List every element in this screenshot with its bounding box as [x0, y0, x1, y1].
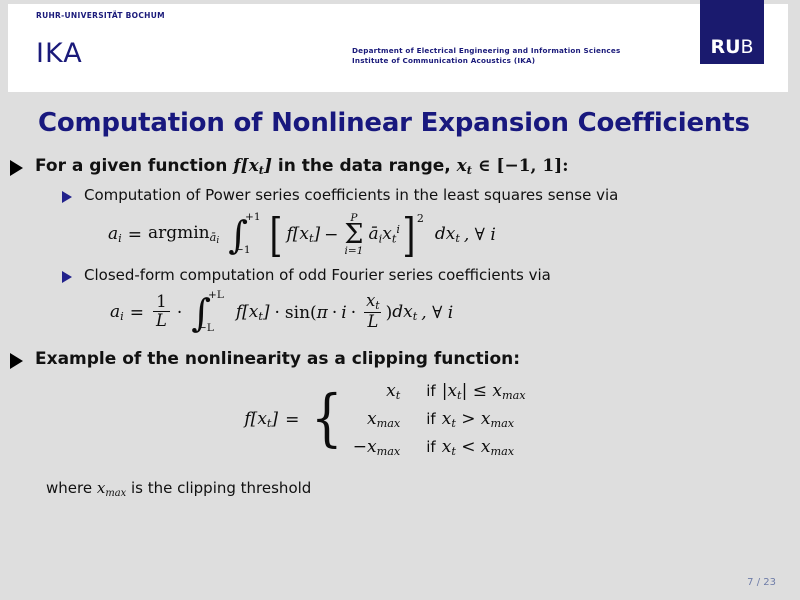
eq2-fraction-xt-over-l: xt L [363, 292, 383, 331]
eq2-differential: dxt [392, 302, 417, 323]
bullet1-f-close: ] [264, 156, 272, 176]
eq1-sum-symbol: Σ [344, 224, 363, 246]
eq2-cdot-3: · [332, 303, 337, 323]
pw-lhs: f[xt] [244, 409, 278, 430]
pw-row-1-cond-a: |x [442, 381, 457, 401]
triangle-subbullet-icon [62, 191, 72, 203]
equation-power-series: ai = argmināi ∫ +1 −1 [ f[xt] − P Σ i=1 … [108, 212, 800, 257]
eq2-pi: π [317, 303, 328, 323]
closing-var-sub: max [105, 487, 126, 498]
bullet1-range-rel: ∈ [−1, 1]: [472, 156, 569, 176]
pw-equals: = [285, 410, 299, 430]
eq2-f-open: f[x [236, 302, 259, 322]
eq1-argmin: argmināi [148, 223, 219, 246]
pw-row-2-value-a: x [367, 409, 377, 429]
pw-row-2-value: xmax [353, 409, 401, 430]
eq1-bracket-exponent: 2 [417, 212, 424, 225]
triangle-bullet-icon [10, 160, 23, 176]
bullet-level1-clipping-example: Example of the nonlinearity as a clippin… [10, 349, 800, 369]
eq2-inner-den: L [364, 312, 381, 331]
eq2-inner-num-sub: t [375, 299, 379, 312]
eq1-f-open: f[x [286, 224, 309, 244]
eq2-f-close: ] [263, 302, 270, 322]
eq2-frac-num: 1 [153, 293, 169, 311]
pw-brace-icon: { [311, 399, 343, 437]
pw-row-3-cond: ifxt < xmax [426, 437, 525, 458]
pw-row-3-cond-rest-sub: max [490, 446, 514, 459]
eq2-sin: sin( [285, 303, 317, 323]
closing-note: where xmax is the clipping threshold [46, 479, 800, 499]
bullet1-text-b: in the data range, [278, 156, 451, 176]
university-name: RUHR-UNIVERSITÄT BOCHUM [36, 11, 165, 20]
eq2-close-paren: ) [386, 303, 393, 323]
pw-cases: xt if|xt| ≤ xmax xmax ifxt > xmax −xmax … [353, 381, 526, 458]
equation-clipping-function-wrap: f[xt] = { xt if|xt| ≤ xmax xmax ifxt > x… [0, 381, 800, 458]
pw-row-1-cond-rest-sub: max [502, 389, 526, 402]
eq1-summation: P Σ i=1 [344, 213, 363, 256]
bullet1-math-f: f[xt] [233, 156, 272, 176]
page-title: Computation of Nonlinear Expansion Coeff… [38, 108, 778, 138]
pw-row-2-cond-a: x [442, 409, 452, 429]
closing-variable: xmax [97, 479, 126, 497]
eq1-diff: dx [435, 224, 455, 244]
triangle-subbullet-icon [62, 271, 72, 283]
eq2-inner-num-a: x [366, 291, 375, 310]
eq2-inner-num: xt [363, 292, 383, 312]
eq1-equals: = [128, 225, 142, 245]
pw-lhs-f: f[x [244, 409, 267, 429]
eq2-lhs-a: a [110, 302, 120, 322]
pw-row-3-if: if [426, 438, 435, 456]
department-line-2: Institute of Communication Acoustics (IK… [352, 56, 620, 66]
pw-row-1-cond-rest: | ≤ x [462, 381, 502, 401]
slide-header: RUHR-UNIVERSITÄT BOCHUM IKA Department o… [0, 0, 800, 92]
bullet1-range: xt ∈ [−1, 1]: [457, 156, 569, 176]
eq1-bracket-open: [ [269, 224, 282, 247]
equation-clipping-function: f[xt] = { xt if|xt| ≤ xmax xmax ifxt > x… [244, 381, 525, 458]
pw-row-2-cond-rest-sub: max [490, 417, 514, 430]
eq2-cdot-1: · [177, 303, 182, 323]
rub-logo: RUB [700, 0, 764, 64]
pw-row-1-value-sub: t [396, 389, 401, 402]
institute-logo-text: IKA [36, 38, 83, 69]
eq2-integrand-f: f[xt] [236, 302, 270, 323]
pw-row-1-if: if [426, 382, 435, 400]
eq1-minus: − [324, 225, 338, 245]
bullet1-range-var: x [457, 156, 467, 176]
eq2-equals: = [130, 303, 144, 323]
pw-row-3-cond-a: x [442, 437, 452, 457]
slide-content: For a given function f[xt] in the data r… [0, 148, 800, 498]
bullet-level2-text: Closed-form computation of odd Fourier s… [84, 266, 551, 284]
eq1-differential: dxt [435, 224, 460, 245]
eq1-lhs: ai [108, 224, 122, 245]
bullet-level1-text: Example of the nonlinearity as a clippin… [35, 349, 520, 369]
bullet-level1-given-function: For a given function f[xt] in the data r… [10, 156, 800, 177]
pw-row-3-value-a: −x [353, 437, 377, 457]
eq2-cdot-4: · [351, 303, 356, 323]
eq1-argmin-word: argmin [148, 223, 210, 243]
eq2-frac-den: L [153, 311, 170, 330]
bullet1-f-open: f[x [233, 156, 259, 176]
eq1-sum-var-sup: i [396, 223, 400, 236]
equation-fourier-series: ai = 1 L · ∫ +L −L f[xt] · sin( π · i · … [110, 290, 800, 335]
eq1-sum-lower: i=1 [345, 246, 364, 257]
eq1-integral-sign: ∫ [228, 224, 248, 247]
pw-row-2-cond-rest: > x [456, 409, 491, 429]
eq2-diff: dx [392, 302, 412, 322]
pw-row-2-cond: ifxt > xmax [426, 409, 525, 430]
page-number: 7 / 23 [747, 577, 776, 588]
eq2-fraction-one-over-l: 1 L [153, 293, 170, 330]
pw-row-1-cond: if|xt| ≤ xmax [426, 381, 525, 402]
eq2-lhs-sub: i [120, 310, 124, 323]
pw-row-1-value-a: x [386, 381, 396, 401]
eq1-sum-coef: ā [368, 225, 378, 245]
bullet-level2-fourier-series: Closed-form computation of odd Fourier s… [62, 266, 800, 284]
bullet1-text-a: For a given function [35, 156, 227, 176]
eq2-index: i [341, 303, 346, 323]
eq2-diff-sub: t [413, 310, 418, 323]
triangle-bullet-icon [10, 353, 23, 369]
eq1-argmin-sub-b: i [216, 236, 219, 246]
closing-text-b: is the clipping threshold [131, 479, 311, 497]
eq1-lhs-sub: i [118, 232, 122, 245]
pw-lhs-close: ] [271, 409, 278, 429]
eq1-sum-term: āixti [368, 223, 399, 245]
eq1-sum-var: x [382, 225, 392, 245]
bullet-level2-power-series: Computation of Power series coefficients… [62, 186, 800, 204]
pw-row-2-if: if [426, 410, 435, 428]
eq2-cdot-2: · [275, 303, 280, 323]
eq2-lhs: ai [110, 302, 124, 323]
eq1-bracket-close: ] [402, 224, 415, 247]
eq1-diff-sub: t [455, 232, 460, 245]
bullet-level2-text: Computation of Power series coefficients… [84, 186, 618, 204]
eq1-forall: , ∀ i [464, 225, 496, 245]
closing-text-a: where [46, 479, 92, 497]
eq2-integral-sign: ∫ [191, 302, 211, 325]
pw-row-3-value: −xmax [353, 437, 401, 458]
eq1-argmin-sub: āi [210, 231, 220, 244]
rub-logo-main: RU [710, 36, 740, 58]
pw-row-3-value-sub: max [377, 446, 401, 459]
pw-row-2-value-sub: max [377, 417, 401, 430]
bullet-level1-text: For a given function f[xt] in the data r… [35, 156, 569, 177]
department-line-1: Department of Electrical Engineering and… [352, 46, 620, 56]
eq1-integrand-f: f[xt] [286, 224, 320, 245]
eq2-forall: , ∀ i [421, 303, 453, 323]
rub-logo-tail: B [741, 36, 754, 58]
pw-row-3-cond-rest: < x [456, 437, 491, 457]
eq1-lhs-a: a [108, 224, 118, 244]
pw-row-1-value: xt [353, 381, 401, 402]
department-info: Department of Electrical Engineering and… [352, 46, 620, 67]
eq1-f-close: ] [314, 224, 321, 244]
